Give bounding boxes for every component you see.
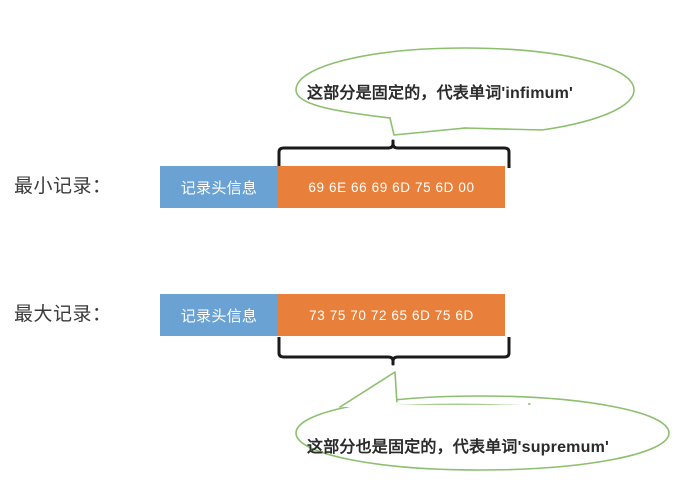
record-bar-min: 记录头信息 69 6E 66 69 6D 75 6D 00	[160, 166, 505, 208]
record-header-segment-max: 记录头信息	[160, 294, 278, 336]
record-body-segment-max: 73 75 70 72 65 6D 75 6D	[278, 294, 505, 336]
row-label-max-record: 最大记录：	[14, 299, 112, 326]
diagram-canvas: 这部分是固定的，代表单词'infimum' 最小记录： 记录头信息 69 6E …	[0, 0, 688, 500]
record-bar-max: 记录头信息 73 75 70 72 65 6D 75 6D	[160, 294, 505, 336]
record-header-segment-min: 记录头信息	[160, 166, 278, 208]
row-label-min-record: 最小记录：	[14, 171, 112, 198]
callout-bubble-supremum	[290, 362, 675, 482]
callout-text-infimum: 这部分是固定的，代表单词'infimum'	[307, 79, 573, 103]
record-body-segment-min: 69 6E 66 69 6D 75 6D 00	[278, 166, 505, 208]
callout-text-supremum: 这部分也是固定的，代表单词'supremum'	[307, 433, 609, 457]
